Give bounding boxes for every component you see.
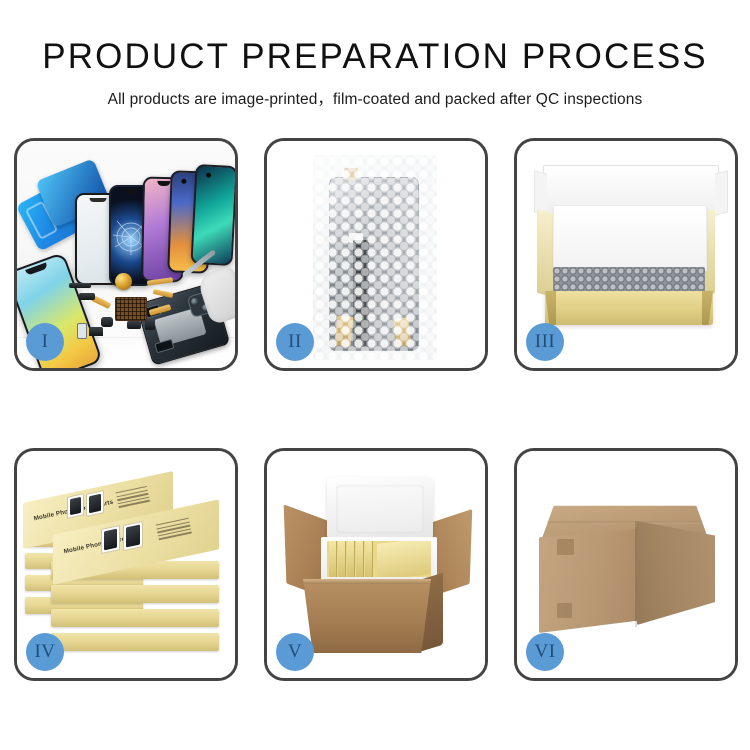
page-title: PRODUCT PREPARATION PROCESS (0, 38, 750, 77)
carton-front-face (539, 529, 639, 633)
spare-part-vibration-motor (115, 273, 132, 290)
box-artwork-phone (101, 525, 120, 554)
spare-part-camera (101, 317, 113, 327)
step-badge-5: V (276, 633, 314, 671)
step-badge-3: III (526, 323, 564, 361)
yellow-retail-boxes (327, 541, 431, 577)
box-artwork-phone (86, 490, 104, 517)
step-badge-2: II (276, 323, 314, 361)
white-foam-sheet (553, 205, 707, 271)
kraft-box-front (545, 291, 713, 325)
spare-part-connector (79, 293, 95, 300)
retail-box (51, 585, 219, 603)
process-step-card-2[interactable]: II (264, 138, 488, 371)
box-artwork-phone (67, 493, 84, 519)
page-header: PRODUCT PREPARATION PROCESS All products… (0, 0, 750, 109)
bubble-wrap-bag (313, 155, 437, 360)
process-step-card-6[interactable]: VI (514, 448, 738, 681)
carton-tape-mark (557, 603, 572, 618)
spare-part-battery (77, 323, 87, 339)
step-badge-4: IV (26, 633, 64, 671)
retail-box (51, 633, 219, 651)
foam-cooler-lid (327, 477, 433, 541)
page-subtitle: All products are image-printed，film-coat… (0, 87, 750, 109)
carton-vertical-edge (635, 521, 637, 627)
retail-box (51, 609, 219, 627)
spare-part-ic-chip (115, 297, 147, 321)
carton-tape-mark (557, 539, 574, 555)
box-inner-wall-left (537, 209, 553, 298)
plastic-sheen (313, 155, 437, 360)
process-step-card-3[interactable]: III (514, 138, 738, 371)
spare-part-bracket (89, 327, 103, 336)
process-step-grid: I II (14, 138, 736, 681)
spare-part-button (127, 321, 141, 329)
spare-part-speaker (69, 283, 91, 288)
box-artwork-phone (123, 521, 143, 551)
process-step-card-5[interactable]: V (264, 448, 488, 681)
step-badge-6: VI (526, 633, 564, 671)
step-badge-1: I (26, 323, 64, 361)
carton-front-panel (299, 579, 435, 653)
process-step-card-1[interactable]: I (14, 138, 238, 371)
spare-part-sim-tray (145, 319, 155, 330)
process-step-card-4[interactable]: Mobile Phone Spare Parts Mobile Phone Sp… (14, 448, 238, 681)
